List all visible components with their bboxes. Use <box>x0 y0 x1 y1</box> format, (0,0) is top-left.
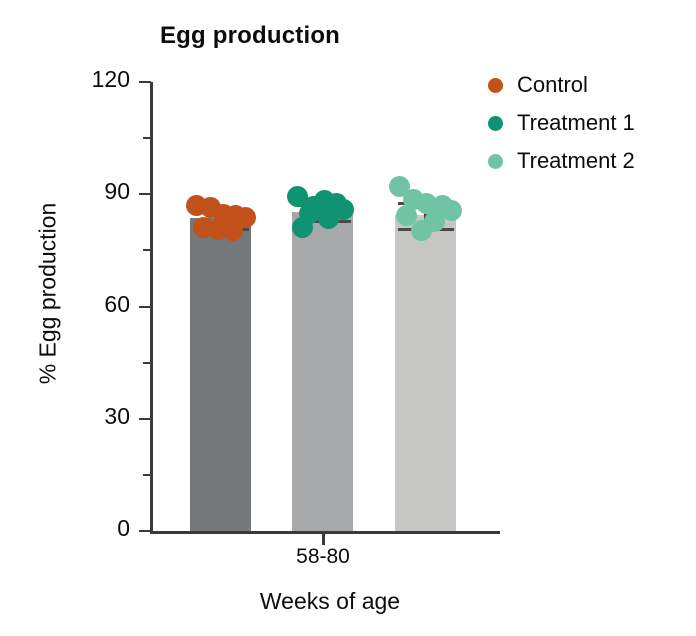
y-tick-major <box>139 193 151 195</box>
legend-item-control[interactable]: Control <box>488 66 635 104</box>
y-tick-minor <box>143 362 151 364</box>
y-axis-label: % Egg production <box>35 134 62 454</box>
data-point <box>411 220 432 241</box>
chart-figure: Egg production% Egg productionWeeks of a… <box>0 0 696 636</box>
y-tick-label: 60 <box>60 291 130 318</box>
y-tick-major <box>139 418 151 420</box>
legend-item-treatment-2[interactable]: Treatment 2 <box>488 142 635 180</box>
y-tick-label: 30 <box>60 403 130 430</box>
x-axis-line <box>150 531 500 534</box>
data-point <box>318 208 339 229</box>
y-tick-label: 0 <box>60 515 130 542</box>
x-tick-label-58-80: 58-80 <box>253 545 393 569</box>
legend-marker-icon <box>488 154 503 169</box>
y-tick-major <box>139 81 151 83</box>
legend-label: Control <box>517 72 588 98</box>
y-tick-minor <box>143 249 151 251</box>
x-axis-label: Weeks of age <box>130 588 530 615</box>
legend-item-treatment-1[interactable]: Treatment 1 <box>488 104 635 142</box>
y-tick-label: 120 <box>60 66 130 93</box>
chart-legend: ControlTreatment 1Treatment 2 <box>488 66 635 180</box>
bar-control <box>190 218 251 531</box>
y-axis-line <box>150 82 153 533</box>
x-tick <box>322 534 325 545</box>
bar-treatment-2 <box>395 215 456 531</box>
bar-treatment-1 <box>292 212 353 531</box>
legend-marker-icon <box>488 116 503 131</box>
y-tick-label: 90 <box>60 178 130 205</box>
legend-label: Treatment 1 <box>517 110 635 136</box>
y-tick-major <box>139 530 151 532</box>
y-tick-minor <box>143 137 151 139</box>
legend-marker-icon <box>488 78 503 93</box>
y-tick-major <box>139 306 151 308</box>
y-tick-minor <box>143 474 151 476</box>
chart-title: Egg production <box>0 22 500 50</box>
legend-label: Treatment 2 <box>517 148 635 174</box>
